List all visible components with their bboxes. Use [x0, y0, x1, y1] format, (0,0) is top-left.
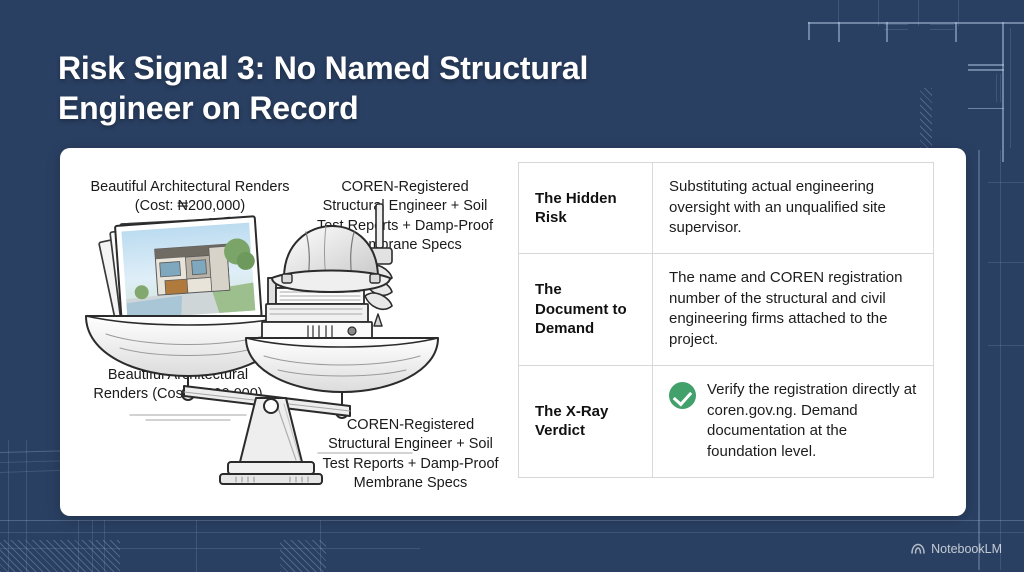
watermark-label: NotebookLM [931, 542, 1002, 556]
slide-title: Risk Signal 3: No Named Structural Engin… [58, 48, 718, 129]
row-value-hidden-risk: Substituting actual engineering oversigh… [653, 163, 934, 254]
content-card: Beautiful Architectural Renders (Cost: ₦… [60, 148, 966, 516]
table-row: The X-Ray Verdict Verify the registratio… [519, 365, 934, 477]
risk-table-container: The Hidden Risk Substituting actual engi… [510, 148, 966, 516]
risk-table: The Hidden Risk Substituting actual engi… [518, 162, 934, 478]
notebooklm-logo-icon [911, 543, 925, 555]
table-row: The Hidden Risk Substituting actual engi… [519, 163, 934, 254]
row-text: Substituting actual engineering oversigh… [669, 177, 917, 239]
row-text: The name and COREN registration number o… [669, 268, 917, 351]
row-value-xray-verdict: Verify the registration directly at core… [653, 365, 934, 477]
row-value-document-to-demand: The name and COREN registration number o… [653, 254, 934, 366]
table-row: The Document to Demand The name and CORE… [519, 254, 934, 366]
balance-scale-illustration: Beautiful Architectural Renders (Cost: ₦… [60, 148, 510, 516]
slide-canvas: Risk Signal 3: No Named Structural Engin… [0, 0, 1024, 572]
render-photos [99, 216, 262, 327]
row-key-hidden-risk: The Hidden Risk [519, 163, 653, 254]
engineering-documents [262, 204, 392, 340]
row-text: Verify the registration directly at core… [707, 380, 917, 463]
check-circle-icon [669, 382, 696, 409]
hard-hat [272, 226, 390, 292]
row-key-xray-verdict: The X-Ray Verdict [519, 365, 653, 477]
notebooklm-watermark: NotebookLM [911, 542, 1002, 556]
scale-drawing [60, 148, 510, 516]
row-key-document-to-demand: The Document to Demand [519, 254, 653, 366]
